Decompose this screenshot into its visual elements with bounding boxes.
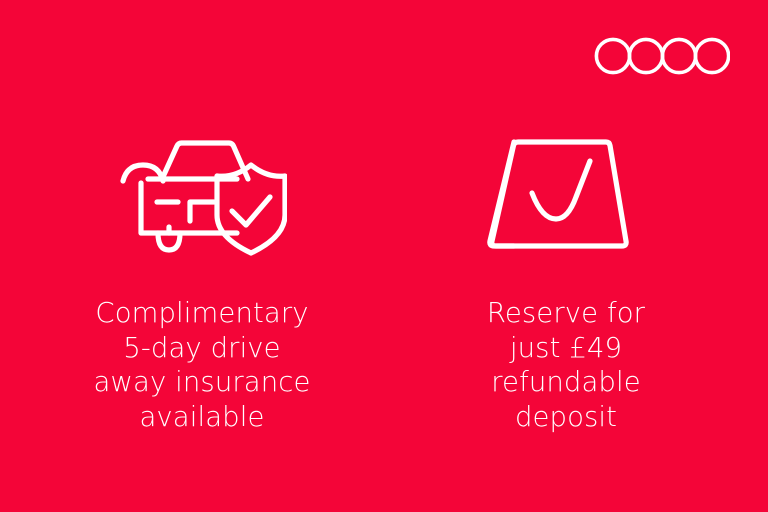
audi-rings-logo: [594, 34, 730, 78]
promo-banner: Complimentary 5-day drive away insurance…: [0, 0, 768, 512]
feature-card-insurance: Complimentary 5-day drive away insurance…: [37, 128, 367, 434]
features-row: Complimentary 5-day drive away insurance…: [0, 128, 768, 434]
feature-card-deposit: Reserve for just £49 refundable deposit: [401, 128, 731, 434]
car-shield-insurance-icon: [117, 128, 287, 258]
a-frame-sign-checkmark-icon: [486, 128, 646, 258]
feature-label-deposit: Reserve for just £49 refundable deposit: [487, 296, 645, 434]
feature-label-insurance: Complimentary 5-day drive away insurance…: [93, 296, 310, 434]
